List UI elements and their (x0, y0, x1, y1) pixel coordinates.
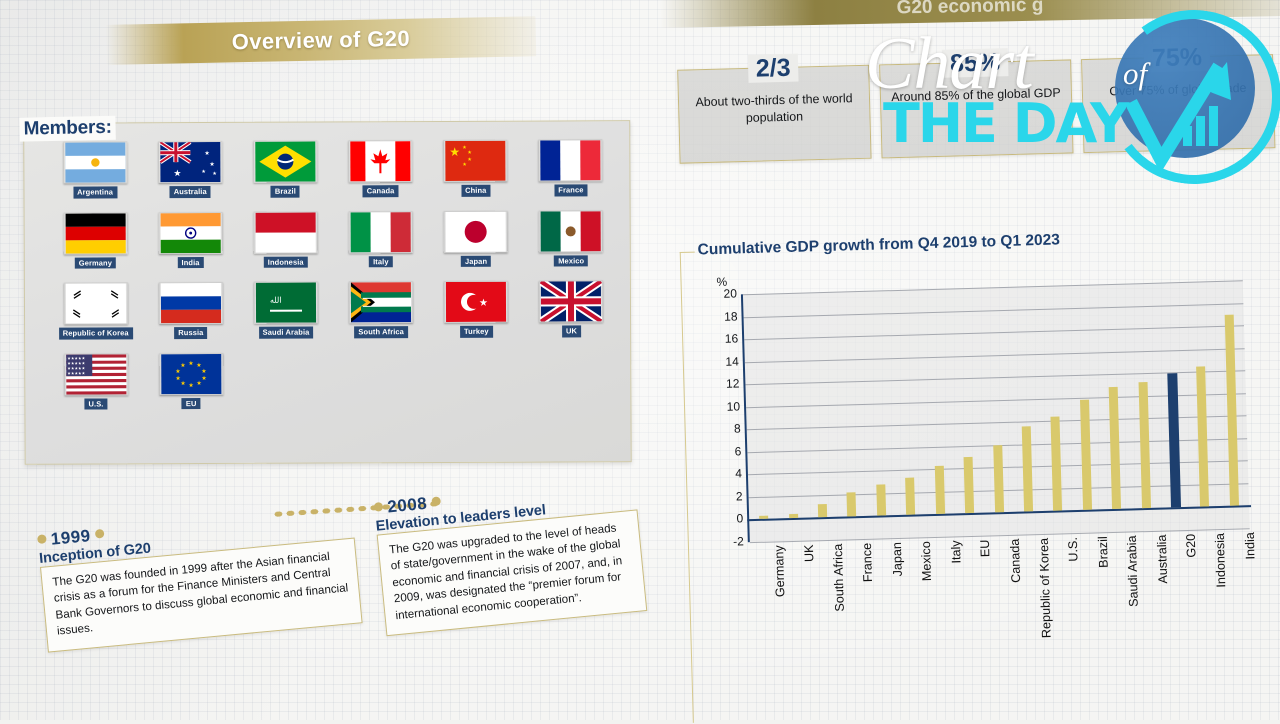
chart-bar (789, 514, 798, 519)
overview-banner-title: Overview of G20 (231, 26, 410, 56)
svg-text:★: ★ (196, 362, 201, 369)
svg-text:★: ★ (173, 168, 181, 178)
svg-text:★: ★ (201, 368, 206, 375)
x-axis-tick-label: UK (802, 544, 816, 562)
timeline-dot-right-icon (431, 496, 441, 506)
stat-description: About two-thirds of the world population (687, 90, 862, 128)
flag-argentina-icon (63, 141, 127, 183)
stat-card-trade: 75% Over 75% of global trade (1081, 54, 1275, 153)
chart-bar (759, 516, 768, 520)
gdp-growth-chart: Cumulative GDP growth from Q4 2019 to Q1… (657, 222, 1280, 724)
timeline-dot-left-icon (374, 502, 384, 512)
timeline-dot-left-icon (37, 534, 47, 544)
svg-text:★: ★ (479, 298, 488, 309)
x-axis-tick-label: South Africa (831, 544, 847, 612)
x-axis-tick-label: Brazil (1096, 536, 1111, 568)
chart-bar (905, 478, 915, 515)
svg-text:★: ★ (468, 157, 473, 163)
svg-text:★: ★ (204, 150, 209, 157)
right-header-banner: G20 economic g (660, 0, 1280, 28)
flag-eu-icon: ★★★★★★★★★★ (159, 352, 223, 394)
stat-value: 2/3 (678, 52, 869, 86)
flag-mexico-icon (539, 210, 603, 252)
stat-value: 85% (880, 46, 1071, 80)
member-flag-label: U.S. (84, 398, 107, 410)
svg-text:★: ★ (201, 169, 206, 175)
member-flag-label: Brazil (271, 186, 300, 198)
flag-india-icon (158, 211, 222, 253)
chart-bar (964, 457, 975, 514)
y-axis-tick-label: 16 (698, 332, 738, 347)
flag-south-africa-icon (349, 281, 413, 323)
chart-bar (993, 445, 1004, 513)
chart-title: Cumulative GDP growth from Q4 2019 to Q1… (697, 231, 1060, 259)
y-axis-tick-label: 14 (699, 354, 739, 369)
member-flag-item: Republic of Korea (51, 282, 140, 339)
flag-germany-icon (63, 212, 127, 254)
y-axis-tick-label: 8 (700, 422, 740, 437)
chart-bar (818, 504, 827, 518)
svg-text:★★★★★: ★★★★★ (67, 370, 85, 375)
member-flag-label: Canada (363, 185, 399, 197)
member-flag-label: UK (562, 325, 581, 337)
y-axis-tick-label: 10 (700, 399, 740, 414)
x-axis-tick-label: EU (978, 539, 992, 557)
y-axis-tick-label: 0 (703, 512, 743, 527)
chart-bar (847, 492, 857, 517)
flag-australia-icon: ★★★★★ (158, 141, 222, 183)
timeline-year: 1999 (50, 526, 91, 549)
flag-brazil-icon (253, 141, 317, 183)
x-axis-tick-label: Saudi Arabia (1125, 535, 1141, 607)
flag-france-icon (539, 139, 603, 181)
member-flag-item: Japan (431, 210, 520, 267)
x-axis-tick-label: Italy (949, 540, 964, 563)
x-axis-tick-label: Mexico (919, 541, 934, 581)
x-axis-tick-label: Germany (772, 545, 787, 597)
stat-boxes: 2/3 About two-thirds of the world popula… (667, 30, 1280, 164)
member-flag-item: Canada (336, 140, 425, 197)
svg-text:★: ★ (188, 360, 193, 367)
svg-text:★: ★ (175, 368, 180, 375)
svg-text:★: ★ (188, 382, 193, 389)
svg-text:★: ★ (180, 362, 185, 369)
member-flag-label: Republic of Korea (59, 327, 133, 339)
timeline-dot-right-icon (94, 529, 104, 539)
timeline-year: 2008 (387, 494, 428, 517)
member-flag-label: Russia (174, 327, 207, 339)
stat-card-population: 2/3 About two-thirds of the world popula… (677, 65, 871, 164)
x-axis-tick-label: U.S. (1066, 537, 1081, 562)
svg-text:★: ★ (209, 161, 214, 168)
x-axis-tick-label: G20 (1184, 534, 1199, 558)
timeline-item-1999: 1999 Inception of G20 The G20 was founde… (37, 502, 363, 653)
member-flag-item: Germany (51, 212, 140, 269)
member-flag-label: Australia (170, 186, 211, 198)
member-flag-item: ★★★★★★★★★★EU (146, 352, 235, 409)
chart-bar (934, 466, 944, 515)
member-flag-item: Brazil (241, 140, 330, 197)
member-flag-label: Argentina (73, 186, 117, 198)
flag-usa-icon: ★★★★★★★★★★★★★★★★★★★★ (64, 353, 128, 395)
member-flag-label: South Africa (354, 326, 408, 338)
flag-canada-icon (348, 140, 412, 182)
x-axis-tick-label: Republic of Korea (1037, 538, 1054, 638)
members-flag-grid: Argentina★★★★★AustraliaBrazilCanada★★★★★… (50, 139, 616, 409)
member-flag-item: France (526, 139, 615, 196)
member-flag-item: ★★★★★★★★★★★★★★★★★★★★U.S. (51, 353, 140, 410)
flag-saudi-arabia-icon: الله (254, 282, 318, 324)
member-flag-label: India (178, 257, 204, 269)
x-axis-tick-label: India (1243, 532, 1258, 560)
flag-south-korea-icon (63, 282, 127, 324)
member-flag-item: Italy (336, 211, 425, 268)
svg-text:★: ★ (450, 145, 461, 159)
right-header-title: G20 economic g (896, 0, 1043, 19)
member-flag-label: Japan (461, 255, 491, 267)
member-flag-item: ★Turkey (432, 281, 521, 338)
svg-text:★: ★ (468, 150, 473, 156)
member-flag-label: Italy (369, 256, 393, 268)
member-flag-label: Saudi Arabia (259, 327, 314, 339)
y-axis-tick-label: -2 (704, 534, 744, 549)
flag-indonesia-icon (253, 211, 317, 253)
member-flag-label: Germany (75, 257, 116, 269)
member-flag-item: South Africa (336, 281, 425, 338)
svg-text:★: ★ (180, 380, 185, 387)
x-axis-tick-label: Canada (1007, 539, 1022, 583)
member-flag-item: UK (527, 280, 616, 337)
member-flag-label: France (554, 184, 587, 196)
x-axis-tick-label: Australia (1154, 534, 1169, 583)
member-flag-label: Indonesia (264, 256, 308, 268)
svg-text:★: ★ (201, 375, 206, 382)
flag-china-icon: ★★★★★ (444, 140, 508, 182)
member-flag-item: Mexico (526, 210, 615, 267)
y-axis-tick-label: 18 (697, 309, 737, 324)
svg-text:★: ★ (463, 162, 468, 168)
svg-text:الله: الله (270, 296, 282, 305)
y-axis-tick-label: 20 (697, 286, 737, 301)
member-flag-item: Indonesia (241, 211, 330, 268)
x-axis-tick-label: Japan (890, 542, 905, 577)
svg-text:★: ★ (212, 171, 217, 177)
stat-card-gdp: 85% Around 85% of the global GDP (879, 59, 1073, 158)
member-flag-item: ★★★★★Australia (145, 141, 234, 198)
members-card: Argentina★★★★★AustraliaBrazilCanada★★★★★… (23, 120, 631, 465)
x-axis-tick-label: France (860, 543, 875, 583)
timeline-item-2008: 2008 Elevation to leaders level The G20 … (373, 474, 647, 637)
x-axis-tick-label: Indonesia (1213, 533, 1229, 588)
y-axis-tick-label: 6 (701, 444, 741, 459)
flag-turkey-icon: ★ (444, 281, 508, 323)
stat-value: 75% (1082, 41, 1273, 75)
y-axis-tick-label: 12 (699, 377, 739, 392)
flag-italy-icon (349, 211, 413, 253)
members-label: Members: (19, 116, 116, 142)
stat-description: Around 85% of the global GDP (889, 85, 1063, 106)
overview-panel: Overview of G20 Members: Argentina★★★★★A… (0, 0, 674, 720)
flag-russia-icon (159, 282, 223, 324)
member-flag-label: China (461, 185, 490, 197)
member-flag-label: Mexico (554, 255, 588, 267)
stat-description: Over 75% of global trade (1091, 79, 1265, 100)
member-flag-label: Turkey (460, 326, 493, 338)
member-flag-item: Russia (146, 282, 235, 339)
y-axis-tick-label: 2 (702, 489, 742, 504)
overview-banner: Overview of G20 (106, 16, 537, 65)
member-flag-label: EU (182, 398, 201, 410)
member-flag-item: Argentina (50, 141, 139, 198)
svg-text:★: ★ (196, 380, 201, 387)
chart-plot-area: % -202468101214161820GermanyUKSouth Afri… (743, 280, 1250, 542)
stats-and-chart-panel: G20 economic g 2/3 About two-thirds of t… (660, 0, 1280, 720)
chart-bar (876, 484, 886, 516)
member-flag-item: ★★★★★China (431, 140, 520, 197)
member-flag-item: اللهSaudi Arabia (241, 281, 330, 338)
member-flag-item: India (146, 211, 235, 268)
flag-uk-icon (539, 280, 603, 322)
y-axis-tick-label: 4 (702, 467, 742, 482)
flag-japan-icon (444, 210, 508, 252)
